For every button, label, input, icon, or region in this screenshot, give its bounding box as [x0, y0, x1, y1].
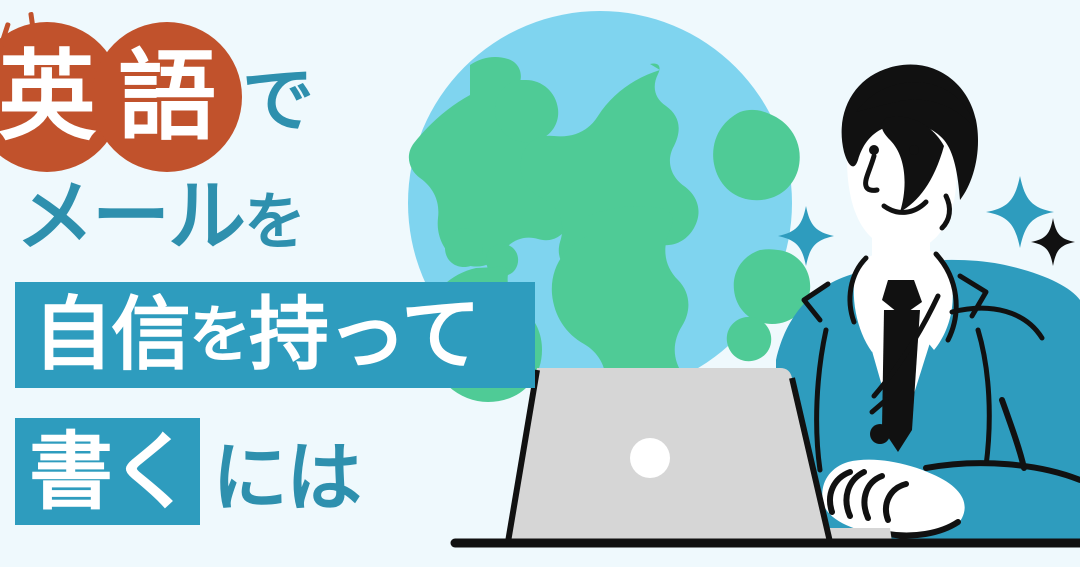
headline-block: 英 語 で メールを 自信を持って 書く には [0, 0, 600, 567]
headline-line4-text: 書く [29, 430, 191, 514]
headline-line4-box: 書く [15, 418, 200, 525]
headline-line3-part3: 持って [249, 295, 479, 375]
headline-line2-main: メール [16, 172, 244, 262]
kanji-circles: 英 語 [0, 22, 272, 172]
headline-line1-suffix: で [242, 64, 314, 136]
kanji-char-2: 語 [92, 22, 242, 172]
headline-line2: メールを [16, 178, 304, 256]
headline-line4-suffix: には [212, 440, 360, 516]
headline-line3-part1: 自信 [33, 295, 189, 375]
headline-line3-box: 自信を持って [15, 282, 535, 388]
laptop-logo [630, 438, 670, 478]
hero-banner: 英 語 で メールを 自信を持って 書く には [0, 0, 1080, 567]
headline-line2-particle: を [244, 185, 304, 258]
headline-line3-part2: を [189, 304, 249, 366]
